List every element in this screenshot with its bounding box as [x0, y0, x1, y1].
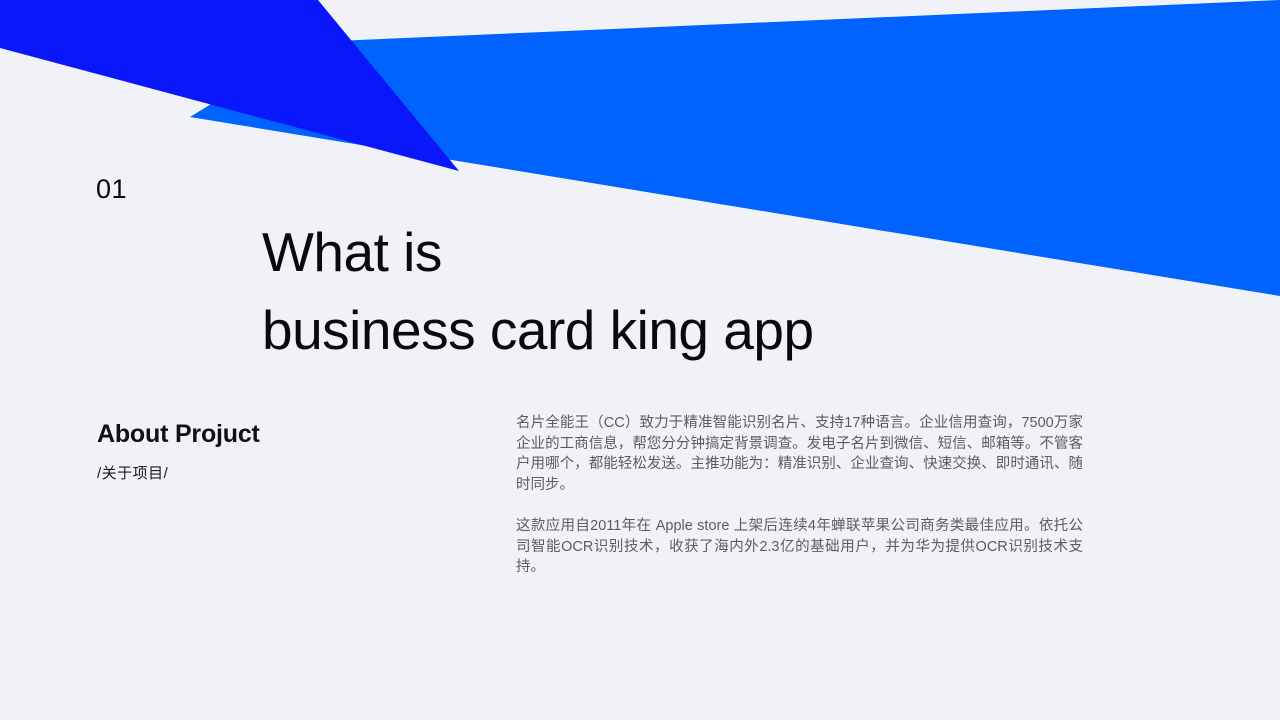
description-column: 名片全能王（CC）致力于精准智能识别名片、支持17种语言。企业信用查询，7500… [516, 413, 1083, 578]
about-column: About Projuct /关于项目/ [97, 418, 427, 484]
description-paragraph-2: 这款应用自2011年在 Apple store 上架后连续4年蝉联苹果公司商务类… [516, 516, 1083, 578]
page-title: What is business card king app [262, 213, 962, 369]
slide-canvas: 01 What is business card king app About … [0, 0, 1280, 720]
slide-body: About Projuct /关于项目/ 名片全能王（CC）致力于精准智能识别名… [0, 400, 1280, 660]
description-paragraph-1: 名片全能王（CC）致力于精准智能识别名片、支持17种语言。企业信用查询，7500… [516, 413, 1083, 495]
page-title-line-1: What is [262, 213, 962, 291]
section-number: 01 [96, 176, 127, 203]
about-heading: About Projuct [97, 418, 427, 450]
about-subheading: /关于项目/ [97, 464, 427, 484]
page-title-line-2: business card king app [262, 291, 962, 369]
slide-header: 01 What is business card king app [0, 0, 1280, 330]
